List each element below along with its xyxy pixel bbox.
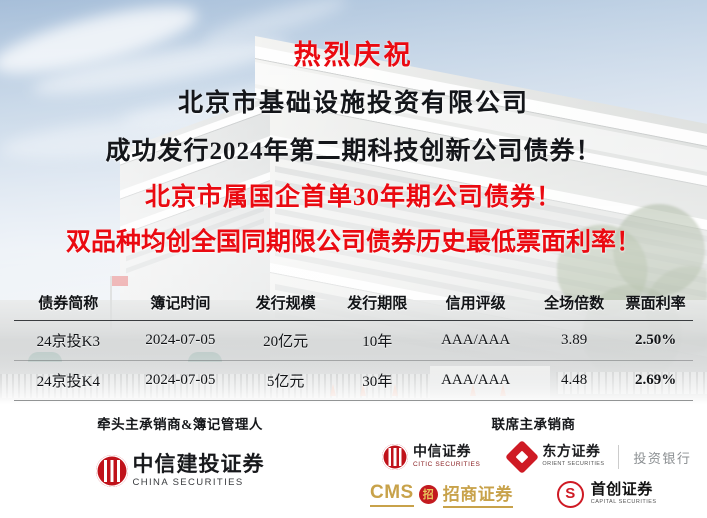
cell-multiple: 4.48 [530, 361, 618, 401]
headline-block: 热烈庆祝 北京市基础设施投资有限公司 成功发行2024年第二期科技创新公司债券！… [0, 42, 707, 255]
headline-line-3: 成功发行2024年第二期科技创新公司债券！ [0, 139, 707, 164]
logo-cn-name: 招商证券 [443, 480, 513, 508]
table-row: 24京投K3 2024-07-05 20亿元 10年 AAA/AAA 3.89 … [14, 321, 693, 361]
logo-divider [618, 445, 619, 469]
headline-line-4: 北京市属国企首单30年期公司债券！ [0, 185, 707, 210]
cell-book-date: 2024-07-05 [123, 361, 238, 401]
joint-logo-row-2: CMS 招 招商证券 首创证券 CAPITAL SECURITIES [360, 480, 707, 508]
table-row: 24京投K4 2024-07-05 5亿元 30年 AAA/AAA 4.48 2… [14, 361, 693, 401]
logo-cn-name: 中信建投证券 [133, 454, 265, 475]
column-header-bond-name: 债券简称 [14, 288, 123, 321]
joint-underwriter-section: 联席主承销商 中信证券 CITIC SECURITIES 东方证券 O [360, 404, 707, 508]
logo-en-name: CHINA SECURITIES [133, 478, 244, 488]
logo-en-name: ORIENT SECURITIES [542, 462, 604, 468]
logo-capital-securities: 首创证券 CAPITAL SECURITIES [557, 481, 657, 508]
lead-underwriter-logo-row: 中信建投证券 CHINA SECURITIES [0, 454, 360, 488]
cell-size: 5亿元 [238, 361, 333, 401]
cell-bond-name: 24京投K4 [14, 361, 123, 401]
headline-line-2: 北京市基础设施投资有限公司 [0, 91, 707, 116]
cms-badge-icon: 招 [419, 485, 438, 504]
lead-underwriter-title: 牵头主承销商&簿记管理人 [0, 413, 360, 433]
logo-china-securities: 中信建投证券 CHINA SECURITIES [96, 454, 265, 488]
cell-coupon-rate: 2.69% [618, 361, 693, 401]
logo-cn-name: 东方证券 [542, 446, 600, 460]
column-header-size: 发行规模 [238, 288, 333, 321]
underwriter-footer: 牵头主承销商&簿记管理人 中信建投证券 CHINA SECURITIES 联席主… [0, 404, 707, 518]
cell-rating: AAA/AAA [421, 361, 530, 401]
logo-en-name: CITIC SECURITIES [413, 462, 480, 469]
joint-underwriter-title: 联席主承销商 [360, 413, 707, 433]
capital-swirl-icon [557, 481, 584, 508]
cell-book-date: 2024-07-05 [123, 321, 238, 361]
bond-terms-table: 债券简称 簿记时间 发行规模 发行期限 信用评级 全场倍数 票面利率 24京投K… [14, 288, 693, 401]
citic-seal-icon [382, 444, 408, 470]
logo-citic-securities: 中信证券 CITIC SECURITIES [382, 444, 480, 470]
orient-diamond-icon [505, 440, 539, 474]
column-header-rating: 信用评级 [421, 288, 530, 321]
column-header-multiple: 全场倍数 [530, 288, 618, 321]
column-header-tenor: 发行期限 [333, 288, 421, 321]
logo-cn-name: 首创证券 [591, 483, 653, 498]
headline-line-5: 双品种均创全国同期限公司债券历史最低票面利率！ [0, 230, 707, 255]
headline-line-1: 热烈庆祝 [0, 42, 707, 69]
logo-cms-china-merchants: CMS 招 招商证券 [370, 480, 513, 508]
column-header-coupon-rate: 票面利率 [618, 288, 693, 321]
cell-size: 20亿元 [238, 321, 333, 361]
logo-en-name: CMS [370, 482, 414, 507]
cell-bond-name: 24京投K3 [14, 321, 123, 361]
logo-cn-name: 中信证券 [413, 446, 471, 460]
bond-issuance-celebration-poster: 热烈庆祝 北京市基础设施投资有限公司 成功发行2024年第二期科技创新公司债券！… [0, 0, 707, 518]
investment-banking-label: 投资银行 [633, 448, 691, 467]
logo-en-name: CAPITAL SECURITIES [591, 500, 657, 506]
cell-tenor: 10年 [333, 321, 421, 361]
column-header-book-date: 簿记时间 [123, 288, 238, 321]
bond-terms-table-wrapper: 债券简称 簿记时间 发行规模 发行期限 信用评级 全场倍数 票面利率 24京投K… [14, 288, 693, 401]
lead-underwriter-section: 牵头主承销商&簿记管理人 中信建投证券 CHINA SECURITIES [0, 404, 360, 488]
cell-rating: AAA/AAA [421, 321, 530, 361]
logo-orient-securities: 东方证券 ORIENT SECURITIES 投资银行 [510, 445, 691, 469]
cell-multiple: 3.89 [530, 321, 618, 361]
citic-seal-icon [96, 455, 128, 487]
cell-coupon-rate: 2.50% [618, 321, 693, 361]
joint-logo-row-1: 中信证券 CITIC SECURITIES 东方证券 ORIENT SECURI… [360, 444, 707, 470]
cell-tenor: 30年 [333, 361, 421, 401]
table-header-row: 债券简称 簿记时间 发行规模 发行期限 信用评级 全场倍数 票面利率 [14, 288, 693, 321]
